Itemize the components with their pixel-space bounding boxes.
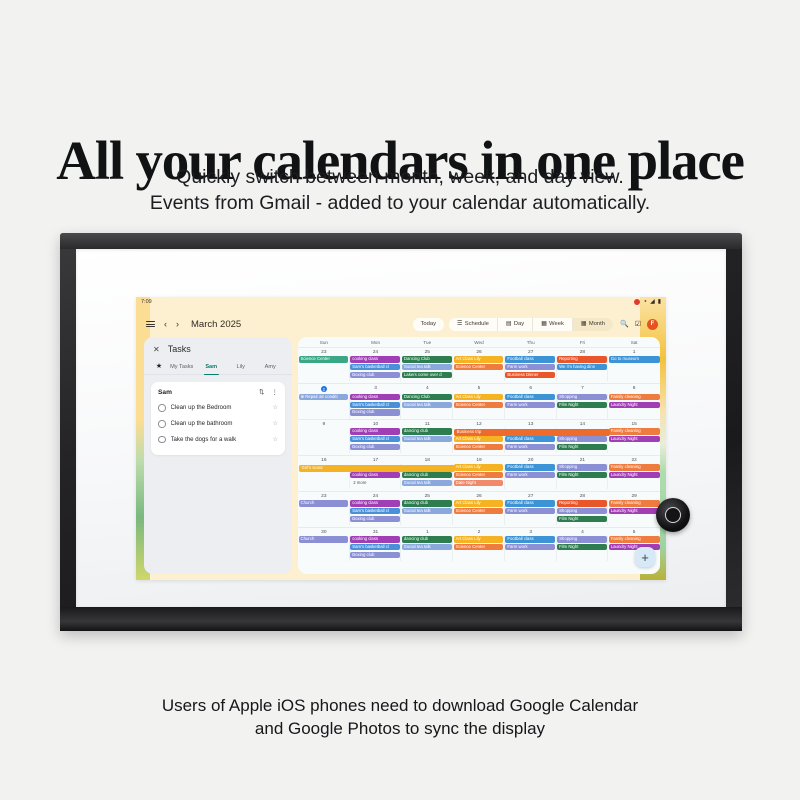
calendar-event[interactable]: Farm work — [505, 364, 555, 371]
calendar-day-cell[interactable]: cooking classSam's basketball clBoxing c… — [350, 536, 402, 561]
calendar-event[interactable]: Date Night — [454, 480, 504, 487]
calendar-week-row: 2345678⊗ Repair air conditicooking class… — [298, 383, 660, 419]
calendar-event[interactable]: Art Class Lily — [454, 500, 504, 507]
day-number[interactable]: 17 — [350, 456, 402, 464]
calendar-day-cell[interactable]: ReportingWe i'm having dinn — [557, 356, 609, 381]
day-of-week-mon: Mon — [350, 337, 402, 347]
tasks-header: ✕ Tasks — [144, 337, 292, 359]
create-event-button[interactable]: + — [635, 547, 655, 567]
calendar-event[interactable]: Science Center — [454, 402, 504, 409]
calendar-event[interactable]: Art Class Lily — [454, 436, 504, 443]
calendar-event[interactable]: Reporting — [557, 356, 607, 363]
calendar-event[interactable]: cooking class — [350, 536, 400, 543]
day-number[interactable]: 18 — [401, 456, 453, 464]
day-number[interactable]: 16 — [298, 456, 350, 464]
calendar-event[interactable]: Art Class Lily — [454, 356, 504, 363]
calendar-day-cell[interactable]: cooking classSam's basketball clBoxing c… — [350, 356, 402, 381]
notification-badge-icon — [634, 299, 640, 305]
week-icon: ▦ — [541, 321, 546, 327]
calendar-event[interactable]: Laundry Night — [609, 402, 660, 409]
close-icon[interactable]: ✕ — [153, 345, 160, 354]
day-of-week-wed: Wed — [453, 337, 505, 347]
calendar-day-cell[interactable]: ShoppingFilm Night — [557, 464, 609, 489]
day-of-week-fri: Fri — [557, 337, 609, 347]
calendar-day-cell[interactable]: Art Class LilyScience Center — [453, 394, 505, 419]
avatar[interactable]: F — [647, 319, 658, 330]
day-number[interactable]: 8 — [608, 384, 660, 394]
day-number[interactable]: 21 — [557, 456, 609, 464]
calendar-event[interactable]: Church — [299, 536, 349, 543]
today-button[interactable]: Today — [413, 318, 444, 331]
day-number[interactable]: 26 — [453, 492, 505, 500]
calendar-day-cell[interactable]: Family cleaningLaundry Night — [608, 428, 660, 453]
search-icon[interactable]: 🔍 — [620, 321, 629, 328]
calendar-event[interactable]: Football class — [505, 464, 555, 471]
star-outline-icon[interactable]: ☆ — [273, 420, 278, 427]
wifi-icon: ◢ — [650, 299, 655, 305]
calendar-day-cell[interactable]: Family cleaningLaundry Night — [608, 464, 660, 489]
calendar-toolbar: ‹ › March 2025 Today ☰ Schedule ▤ — [136, 311, 666, 337]
check-circle-icon[interactable]: ☑ — [635, 321, 641, 328]
calendar-week-row: 9101112131415cooking classSam's basketba… — [298, 419, 660, 455]
calendar-event[interactable]: Dancing Club — [402, 356, 452, 363]
calendar-day-cell[interactable]: Football classFarm work — [505, 500, 557, 525]
calendar-day-cell[interactable]: Family cleaningLaundry Night — [608, 500, 660, 525]
calendar-event[interactable]: Sam's basketball cl — [350, 544, 400, 551]
tasks-panel: ✕ Tasks ★ My Tasks Sam Lily Amy S — [144, 337, 292, 574]
view-week-button[interactable]: ▦ Week — [533, 318, 573, 331]
tasks-tabs: ★ My Tasks Sam Lily Amy — [144, 359, 292, 375]
day-number[interactable]: 5 — [608, 528, 660, 536]
list-item[interactable]: Clean up the bathroom ☆ — [158, 416, 278, 432]
day-number[interactable]: 20 — [505, 456, 557, 464]
calendar-week-row: 303112345Churchcooking classSam's basket… — [298, 527, 660, 563]
more-events-label[interactable]: 2 more — [350, 480, 400, 487]
calendar-event[interactable]: Art Class Lily — [454, 536, 504, 543]
day-number[interactable]: 26 — [453, 348, 505, 356]
day-number[interactable]: 7 — [557, 384, 609, 394]
subheadline-line-1: Quickly switch between month, week, and … — [0, 165, 800, 191]
calendar-event[interactable]: Shopping — [557, 436, 607, 443]
more-vertical-icon[interactable]: ⋮ — [272, 388, 279, 396]
day-number[interactable]: 25 — [401, 492, 453, 500]
calendar-event[interactable]: cooking class — [350, 356, 400, 363]
calendar-event[interactable]: Film Night — [557, 544, 607, 551]
calendar-day-cell[interactable]: Science Center — [298, 356, 350, 381]
day-number[interactable]: 23 — [298, 348, 350, 356]
calendar-event[interactable]: Reporting — [557, 500, 607, 507]
calendar-event[interactable]: Art Class Lily — [454, 464, 504, 471]
calendar-event[interactable]: Film Night — [557, 516, 607, 523]
day-number[interactable]: 27 — [505, 348, 557, 356]
bluetooth-icon: ᛭ — [643, 299, 647, 305]
calendar-event[interactable]: cooking class — [350, 500, 400, 507]
day-number[interactable]: 13 — [505, 420, 557, 428]
view-week-label: Week — [549, 321, 564, 327]
hamburger-icon[interactable] — [146, 319, 155, 328]
calendar-day-cell[interactable]: Football classFarm work — [505, 536, 557, 561]
tab-starred[interactable]: ★ — [151, 359, 167, 374]
view-day-button[interactable]: ▤ Day — [498, 318, 533, 331]
frame-bevel-bottom — [60, 607, 742, 631]
calendar-event[interactable]: Laundry Night — [609, 472, 660, 479]
calendar-day-cell[interactable]: Church — [298, 536, 350, 561]
calendar-day-cell[interactable]: ⊗ Repair air conditi — [298, 394, 350, 419]
calendar-weeks: 2324252627281Science Centercooking class… — [298, 347, 660, 563]
day-number[interactable]: 14 — [557, 420, 609, 428]
day-number[interactable]: 28 — [557, 348, 609, 356]
calendar-event[interactable]: Shopping — [557, 508, 607, 515]
calendar-day-cell[interactable]: Football classFarm work — [505, 394, 557, 419]
current-month-label: March 2025 — [191, 319, 241, 330]
calendar-event[interactable]: cooking class — [350, 428, 400, 435]
task-list-header: Sam ⇅ ⋮ — [158, 388, 278, 396]
calendar-event[interactable]: Family cleaning — [609, 536, 660, 543]
view-schedule-label: Schedule — [465, 321, 489, 327]
tab-lily[interactable]: Lily — [226, 361, 256, 374]
calendar-event[interactable]: Boxing club — [350, 552, 400, 559]
status-time: 7:09 — [141, 299, 152, 305]
calendar-event[interactable]: Business Dinner — [505, 372, 555, 379]
calendar-event[interactable]: Boxing club — [350, 516, 400, 523]
calendar-event[interactable]: Farm work — [505, 444, 555, 451]
day-number[interactable]: 4 — [557, 528, 609, 536]
star-outline-icon[interactable]: ☆ — [273, 436, 278, 443]
calendar-day-cell[interactable]: Art Class LilyScience Center — [453, 536, 505, 561]
day-number[interactable]: 2 — [453, 528, 505, 536]
day-of-week-header: SunMonTueWedThuFriSat — [298, 337, 660, 347]
screen-content: ✕ Tasks ★ My Tasks Sam Lily Amy S — [136, 337, 666, 580]
calendar-event[interactable]: Family cleaning — [609, 428, 660, 435]
day-number[interactable]: 1 — [608, 348, 660, 356]
day-number[interactable]: 11 — [401, 420, 453, 428]
battery-icon: ▮ — [658, 299, 661, 305]
calendar-day-cell[interactable]: Football classFarm work — [505, 464, 557, 489]
caption-line-2: and Google Photos to sync the display — [0, 717, 800, 740]
task-checkbox-icon[interactable] — [158, 404, 166, 412]
subheadline-line-2: Events from Gmail - added to your calend… — [0, 191, 800, 217]
tab-sam[interactable]: Sam — [197, 361, 227, 374]
calendar-event[interactable]: Shopping — [557, 464, 607, 471]
calendar-event[interactable]: cooking class — [350, 394, 400, 401]
calendar-event[interactable]: ⊗ Repair air conditi — [299, 394, 349, 401]
calendar-event[interactable]: dancing club — [402, 536, 452, 543]
calendar-event[interactable]: Church — [299, 500, 349, 507]
day-number[interactable]: 29 — [608, 492, 660, 500]
calendar-day-cell[interactable]: Dancing ClubSocial tea talkLakers come o… — [401, 356, 453, 381]
calendar-event[interactable]: Art Class Lily — [454, 394, 504, 401]
sort-icon[interactable]: ⇅ — [259, 388, 264, 396]
calendar-event[interactable]: Laundry Night — [609, 508, 660, 515]
day-of-week-thu: Thu — [505, 337, 557, 347]
star-outline-icon[interactable]: ☆ — [273, 404, 278, 411]
calendar-event[interactable]: Film Night — [557, 472, 607, 479]
calendar-day-cell[interactable]: Family cleaningLaundry Night — [608, 394, 660, 419]
day-number[interactable]: 5 — [453, 384, 505, 394]
list-item[interactable]: Take the dogs for a walk ☆ — [158, 432, 278, 448]
calendar-event[interactable]: Laundry Night — [609, 436, 660, 443]
caption-line-1: Users of Apple iOS phones need to downlo… — [0, 694, 800, 717]
calendar-event[interactable]: Family cleaning — [609, 464, 660, 471]
calendar-event[interactable]: Science Center — [454, 544, 504, 551]
calendar-event[interactable]: Sam's basketball cl — [350, 508, 400, 515]
calendar-event[interactable]: Boxing club — [350, 409, 400, 416]
calendar-event[interactable]: Boxing club — [350, 444, 400, 451]
task-list-owner: Sam — [158, 389, 172, 396]
calendar-event[interactable]: Social tea talk — [402, 508, 452, 515]
calendar-day-cell[interactable]: cooking classSam's basketball clBoxing c… — [350, 500, 402, 525]
next-month-button[interactable]: › — [176, 320, 179, 329]
view-month-button[interactable]: ▦ Month — [573, 318, 613, 331]
calendar-event[interactable]: Football class — [505, 536, 555, 543]
photo-frame-device: 7:09 ᛭ ◢ ▮ ‹ › March 2025 — [60, 233, 742, 631]
view-month-label: Month — [589, 321, 605, 327]
day-number[interactable]: 19 — [453, 456, 505, 464]
day-number[interactable]: 24 — [350, 492, 402, 500]
calendar-event[interactable]: Social tea talk — [402, 544, 452, 551]
day-number[interactable]: 22 — [608, 456, 660, 464]
task-checkbox-icon[interactable] — [158, 420, 166, 428]
prev-month-button[interactable]: ‹ — [164, 320, 167, 329]
status-icons: ᛭ ◢ ▮ — [634, 299, 661, 305]
calendar-event[interactable]: Science Center — [454, 508, 504, 515]
calendar-day-cell[interactable]: cooking classSam's basketball clBoxing c… — [350, 428, 402, 453]
calendar-event[interactable]: Science Center — [299, 356, 349, 363]
calendar-event[interactable]: Social tea talk — [402, 402, 452, 409]
calendar-event[interactable]: Family cleaning — [609, 500, 660, 507]
calendar-day-cell[interactable]: Art Class LilyScience CenterDate Night — [453, 464, 505, 489]
calendar-day-cell[interactable]: Art Class LilyScience Center — [453, 500, 505, 525]
calendar-day-cell[interactable]: ReportingShoppingFilm Night — [557, 500, 609, 525]
tab-my-tasks[interactable]: My Tasks — [167, 361, 197, 374]
day-number[interactable]: 3 — [505, 528, 557, 536]
day-of-week-sat: Sat — [608, 337, 660, 347]
frame-bevel-top — [60, 233, 742, 249]
calendar-day-cell[interactable]: Football classFarm workBusiness Dinner — [505, 356, 557, 381]
tasks-title: Tasks — [168, 344, 191, 354]
calendar-event[interactable]: Science Center — [454, 444, 504, 451]
day-number[interactable]: 27 — [505, 492, 557, 500]
calendar-event[interactable]: Shopping — [557, 394, 607, 401]
day-number[interactable]: 25 — [401, 348, 453, 356]
task-label: Clean up the bathroom — [171, 420, 268, 427]
calendar-event[interactable]: Sam's basketball cl — [350, 402, 400, 409]
calendar-event[interactable]: Family cleaning — [609, 394, 660, 401]
camera-puck — [656, 498, 690, 532]
calendar-event[interactable]: Science Center — [454, 472, 504, 479]
calendar-event[interactable]: Boxing club — [350, 372, 400, 379]
day-number[interactable]: 12 — [453, 420, 505, 428]
schedule-icon: ☰ — [457, 321, 462, 327]
day-number[interactable]: 31 — [350, 528, 402, 536]
calendar-event[interactable]: Farm work — [505, 508, 555, 515]
calendar-day-cell[interactable]: Go to museum — [608, 356, 660, 381]
task-list-card: Sam ⇅ ⋮ Clean up the Bedroom — [151, 382, 285, 455]
day-number[interactable]: 28 — [557, 492, 609, 500]
calendar-day-cell[interactable]: ShoppingFilm Night — [557, 536, 609, 561]
calendar-event[interactable]: dancing club — [402, 472, 452, 479]
calendar-event[interactable]: Social tea talk — [402, 364, 452, 371]
calendar-event[interactable]: Social tea talk — [402, 480, 452, 487]
calendar-event[interactable]: Lakers come over d — [402, 372, 452, 379]
frame-mat: 7:09 ᛭ ◢ ▮ ‹ › March 2025 — [76, 249, 726, 607]
calendar-event[interactable]: Film Night — [557, 444, 607, 451]
calendar-event[interactable]: Shopping — [557, 536, 607, 543]
calendar-day-cell[interactable]: dancing clubSocial tea talk — [401, 428, 453, 453]
calendar-event[interactable]: Football class — [505, 500, 555, 507]
calendar-event-multiday[interactable]: Business trip — [454, 429, 610, 436]
promo-page: All your calendars in one place Quickly … — [0, 0, 800, 800]
day-number[interactable]: 6 — [505, 384, 557, 394]
calendar-event[interactable]: Farm work — [505, 472, 555, 479]
task-label: Take the dogs for a walk — [171, 436, 268, 443]
calendar-week-row: 2324252627281Science Centercooking class… — [298, 347, 660, 383]
calendar-event[interactable]: Science Center — [454, 364, 504, 371]
status-bar: 7:09 ᛭ ◢ ▮ — [136, 297, 666, 311]
calendar-day-cell[interactable]: dancing clubSocial tea talk — [401, 536, 453, 561]
calendar-event[interactable]: dancing club — [402, 428, 452, 435]
day-number[interactable]: 2 — [298, 384, 350, 394]
day-icon: ▤ — [506, 321, 511, 327]
task-label: Clean up the Bedroom — [171, 404, 268, 411]
day-number[interactable]: 24 — [350, 348, 402, 356]
tab-amy[interactable]: Amy — [256, 361, 286, 374]
calendar-event[interactable]: Sam's basketball cl — [350, 436, 400, 443]
calendar-event[interactable]: Football class — [505, 356, 555, 363]
day-of-week-tue: Tue — [401, 337, 453, 347]
calendar-day-cell[interactable] — [298, 428, 350, 453]
day-number[interactable]: 23 — [298, 492, 350, 500]
list-item[interactable]: Clean up the Bedroom ☆ — [158, 400, 278, 416]
calendar-event[interactable]: dancing club — [402, 500, 452, 507]
calendar-event[interactable]: Football class — [505, 436, 555, 443]
calendar-day-cell[interactable]: Dancing ClubSocial tea talk — [401, 394, 453, 419]
month-icon: ▦ — [581, 321, 586, 327]
task-checkbox-icon[interactable] — [158, 436, 166, 444]
day-number[interactable]: 15 — [608, 420, 660, 428]
calendar-event[interactable]: Go to museum — [609, 356, 660, 363]
calendar-event[interactable]: Farm work — [505, 544, 555, 551]
task-items: Clean up the Bedroom ☆ Clean up the bath… — [158, 400, 278, 448]
day-of-week-sun: Sun — [298, 337, 350, 347]
calendar-event[interactable]: Sam's basketball cl — [350, 364, 400, 371]
calendar-grid: SunMonTueWedThuFriSat 2324252627281Scien… — [298, 337, 660, 574]
calendar-event[interactable]: Farm work — [505, 402, 555, 409]
calendar-day-cell[interactable]: cooking classSam's basketball clBoxing c… — [350, 394, 402, 419]
calendar-event[interactable]: cooking class — [350, 472, 400, 479]
calendar-event-multiday[interactable]: Girl's scout — [299, 465, 455, 472]
calendar-event[interactable]: Film Night — [557, 402, 607, 409]
calendar-event[interactable]: We i'm having dinn — [557, 364, 607, 371]
footer-caption: Users of Apple iOS phones need to downlo… — [0, 694, 800, 741]
day-number[interactable]: 30 — [298, 528, 350, 536]
day-number[interactable]: 1 — [401, 528, 453, 536]
calendar-event[interactable]: Football class — [505, 394, 555, 401]
day-number[interactable]: 3 — [350, 384, 402, 394]
view-day-label: Day — [514, 321, 524, 327]
calendar-event[interactable]: Social tea talk — [402, 436, 452, 443]
calendar-week-row: 16171819202122..cooking class2 more.danc… — [298, 455, 660, 491]
device-screen: 7:09 ᛭ ◢ ▮ ‹ › March 2025 — [136, 297, 666, 580]
calendar-day-cell[interactable]: Church — [298, 500, 350, 525]
calendar-day-cell[interactable]: ShoppingFilm Night — [557, 394, 609, 419]
day-number[interactable]: 10 — [350, 420, 402, 428]
calendar-week-row: 23242526272829Churchcooking classSam's b… — [298, 491, 660, 527]
calendar-day-cell[interactable]: dancing clubSocial tea talk — [401, 500, 453, 525]
view-switcher: ☰ Schedule ▤ Day ▦ Week — [449, 318, 613, 331]
day-number[interactable]: 9 — [298, 420, 350, 428]
view-schedule-button[interactable]: ☰ Schedule — [449, 318, 498, 331]
calendar-event[interactable]: Dancing Club — [402, 394, 452, 401]
day-number[interactable]: 4 — [401, 384, 453, 394]
calendar-day-cell[interactable]: Art Class LilyScience Center — [453, 356, 505, 381]
